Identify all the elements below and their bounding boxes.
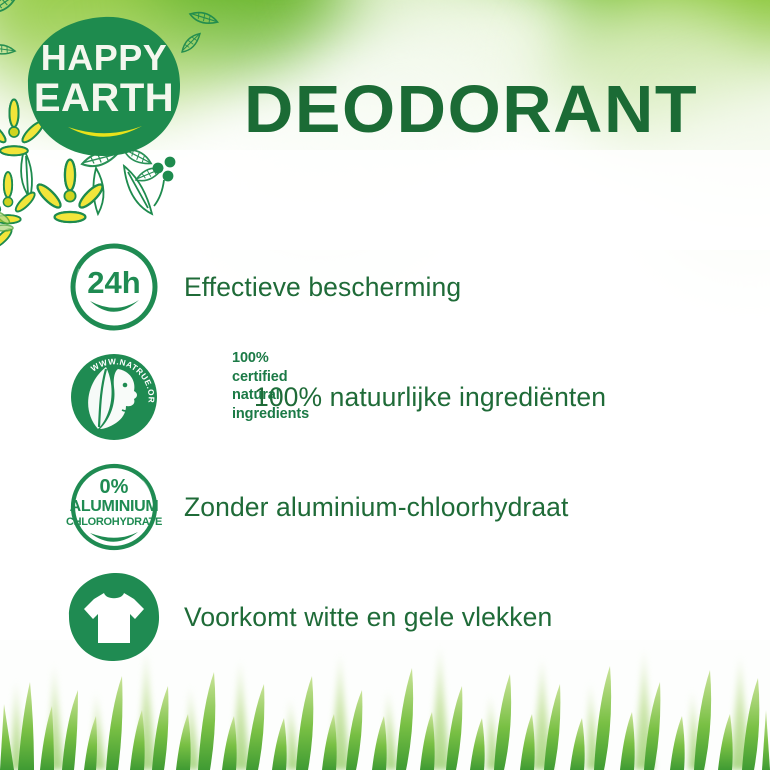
tshirt-no-stains-icon (64, 567, 164, 667)
feature-label-2: Zonder aluminium-chloorhydraat (184, 492, 568, 523)
feature-label-0: Effectieve bescherming (184, 272, 461, 303)
logo-text-earth: EARTH (34, 76, 174, 120)
feature-row-natrue: WWW.NATRUE.ORG 100% certified natural in… (0, 342, 770, 452)
natrue-circle (71, 354, 157, 440)
natrue-caption: 100% certified natural ingredients (232, 349, 318, 423)
feature-list: 24h Effectieve bescherming (0, 232, 770, 672)
natrue-certified-icon: WWW.NATRUE.ORG 100% certified natural in… (64, 347, 164, 447)
feature-label-3: Voorkomt witte en gele vlekken (184, 602, 552, 633)
feature-row-tshirt: Voorkomt witte en gele vlekken (0, 562, 770, 672)
aluminium-line-0: 0% (100, 476, 129, 498)
aluminium-line-2: CHLOROHYDRATE (66, 516, 162, 528)
page-title: DEODORANT (244, 76, 698, 143)
aluminium-smile (90, 532, 138, 542)
logo-text-happy: HAPPY (41, 37, 168, 78)
24h-badge-icon: 24h (64, 237, 164, 337)
natrue-caption-line-3: ingredients (232, 405, 318, 424)
zero-aluminium-badge-icon: 0% ALUMINIUM CHLOROHYDRATE (64, 457, 164, 557)
natrue-caption-line-0: 100% (232, 349, 318, 368)
happy-earth-logo[interactable]: HAPPY EARTH (24, 14, 184, 162)
natrue-caption-line-2: natural (232, 386, 318, 405)
24h-badge-label: 24h (87, 265, 140, 300)
feature-row-24h: 24h Effectieve bescherming (0, 232, 770, 342)
24h-smile (90, 300, 139, 312)
aluminium-line-1: ALUMINIUM (70, 498, 159, 515)
product-feature-banner: HAPPY EARTH DEODORANT 24h Effectieve bes… (0, 0, 770, 770)
feature-row-aluminium: 0% ALUMINIUM CHLOROHYDRATE Zonder alumin… (0, 452, 770, 562)
natrue-caption-line-1: certified (232, 368, 318, 387)
